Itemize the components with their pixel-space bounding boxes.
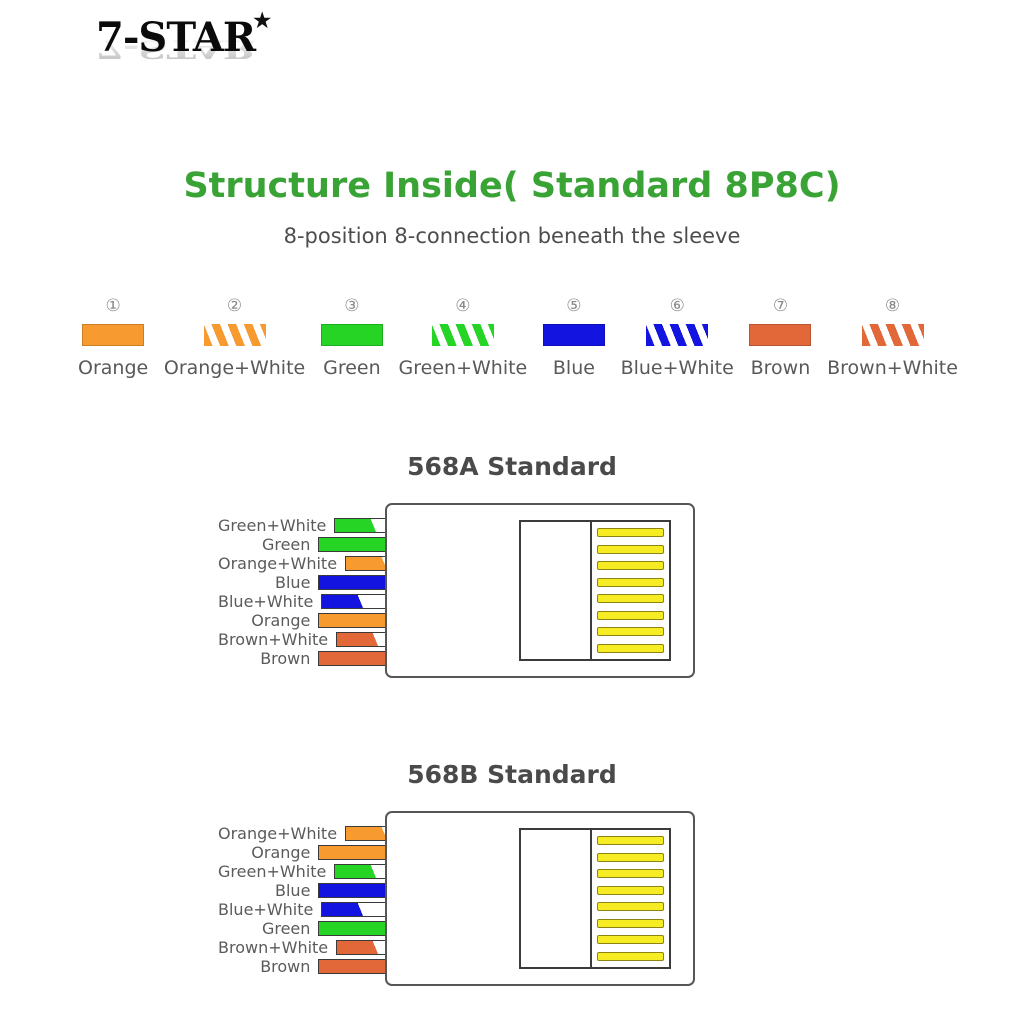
legend-number-icon: ② [227,296,242,318]
contact-pin [597,853,664,862]
legend-item-blue-white: ⑥Blue+White [621,296,734,379]
legend-number-icon: ③ [344,296,359,318]
page-subtitle: 8-position 8-connection beneath the slee… [0,224,1024,248]
contact-pin [597,935,664,944]
diagram-568a: Green+WhiteGreenOrange+WhiteBlueBlue+Whi… [0,503,1024,693]
wire-label: Green+White [218,517,334,534]
contact-pin [597,561,664,570]
legend-label: Orange+White [164,357,305,379]
contact-pin [597,611,664,620]
legend-item-blue: ⑤Blue [543,296,605,379]
legend-swatch [204,324,266,346]
pin-bay-568a [590,520,671,661]
wire-label: Blue+White [218,593,321,610]
contact-pin [597,644,664,653]
contact-pin [597,952,664,961]
legend-label: Orange [78,357,148,379]
legend-swatch [749,324,811,346]
wire-label: Orange [218,612,318,629]
wire-label: Brown [218,650,318,667]
logo-reflection: 7-STAR [96,35,255,62]
standard-block-568b: 568B Standard Orange+WhiteOrangeGreen+Wh… [0,760,1024,1001]
legend-item-orange: ①Orange [78,296,148,379]
wire-label: Brown [218,958,318,975]
legend-number-icon: ⑤ [566,296,581,318]
legend-label: Blue+White [621,357,734,379]
contact-pin [597,594,664,603]
wire-label: Orange+White [218,825,345,842]
standard-block-568a: 568A Standard Green+WhiteGreenOrange+Whi… [0,452,1024,693]
legend-swatch [82,324,144,346]
diagram-568b: Orange+WhiteOrangeGreen+WhiteBlueBlue+Wh… [0,811,1024,1001]
legend-label: Green+White [399,357,528,379]
contact-pin [597,919,664,928]
wire-label: Orange [218,844,318,861]
legend-item-brown-white: ⑧Brown+White [827,296,958,379]
contact-pin [597,627,664,636]
wire-label: Orange+White [218,555,345,572]
wire-color-legend: ①Orange②Orange+White③Green④Green+White⑤B… [78,296,958,379]
pin-bay-568b [590,828,671,969]
legend-item-green-white: ④Green+White [399,296,528,379]
legend-swatch [543,324,605,346]
contact-pin [597,886,664,895]
legend-label: Green [323,357,381,379]
contact-pin [597,902,664,911]
brand-logo: 7-STAR ★ 7-STAR [96,16,326,96]
wire-label: Blue [218,882,318,899]
contact-pin [597,836,664,845]
legend-item-orange-white: ②Orange+White [164,296,305,379]
wire-label: Green+White [218,863,334,880]
contact-pin [597,578,664,587]
legend-item-green: ③Green [321,296,383,379]
standard-title-568b: 568B Standard [0,760,1024,789]
legend-item-brown: ⑦Brown [749,296,811,379]
wire-label: Blue+White [218,901,321,918]
legend-label: Blue [553,357,595,379]
contact-pin [597,545,664,554]
contact-pin [597,869,664,878]
legend-swatch [432,324,494,346]
legend-number-icon: ⑦ [773,296,788,318]
wire-label: Green [218,536,318,553]
star-icon: ★ [253,10,270,30]
legend-swatch [646,324,708,346]
wire-label: Green [218,920,318,937]
page-title: Structure Inside( Standard 8P8C) [0,166,1024,206]
legend-number-icon: ⑥ [670,296,685,318]
legend-number-icon: ① [105,296,120,318]
contact-pin [597,528,664,537]
legend-number-icon: ④ [455,296,470,318]
wire-label: Brown+White [218,939,336,956]
legend-swatch [321,324,383,346]
wire-label: Blue [218,574,318,591]
legend-swatch [862,324,924,346]
legend-number-icon: ⑧ [885,296,900,318]
legend-label: Brown [751,357,811,379]
wire-label: Brown+White [218,631,336,648]
legend-label: Brown+White [827,357,958,379]
standard-title-568a: 568A Standard [0,452,1024,481]
